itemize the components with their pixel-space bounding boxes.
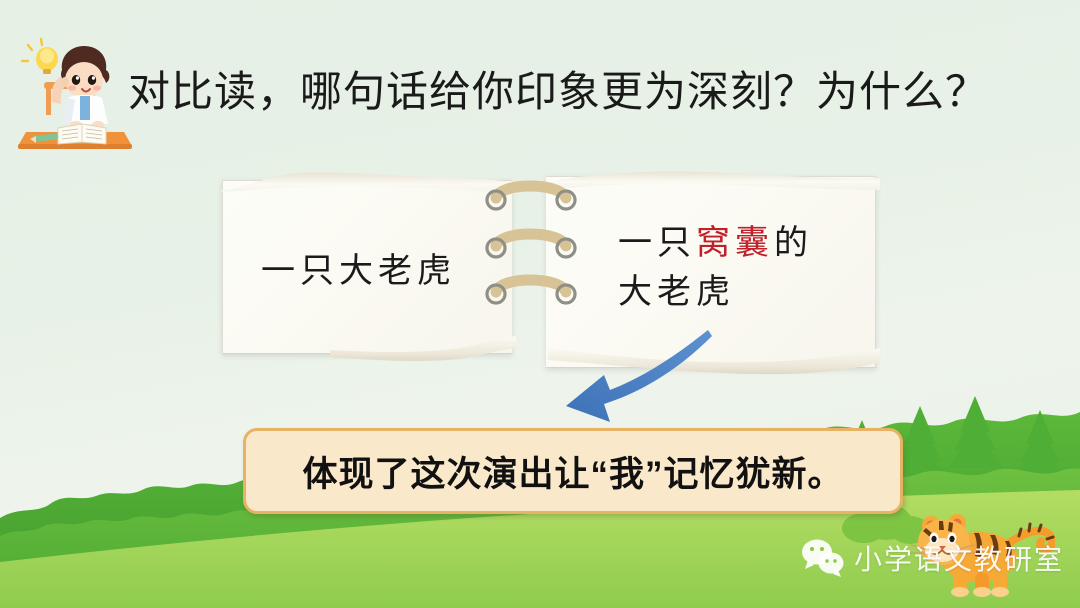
lightbulb-idea-icon	[22, 39, 58, 74]
card-right-text: 一只窝囊的 大老虎	[618, 219, 813, 318]
card-right-line1-prefix: 一只	[618, 225, 696, 262]
callout-text: 体现了这次演出让“我”记忆犹新。	[302, 446, 843, 497]
paper-card-left: 一只大老虎	[222, 180, 512, 354]
watermark: 小学语文教研室	[800, 538, 1064, 578]
watermark-text: 小学语文教研室	[854, 538, 1064, 578]
card-right-highlight: 窝囊	[696, 225, 774, 262]
wechat-icon	[800, 538, 846, 578]
slide-canvas: 对比读，哪句话给你印象更为深刻？为什么？ 一只大老虎	[0, 0, 1080, 608]
boy-studying-illustration	[16, 32, 134, 152]
card-right-line2: 大老虎	[618, 274, 735, 311]
page-title: 对比读，哪句话给你印象更为深刻？为什么？	[128, 72, 988, 114]
card-left-text: 一只大老虎	[261, 243, 456, 292]
callout-box: 体现了这次演出让“我”记忆犹新。	[243, 428, 903, 514]
blue-curved-arrow-icon	[548, 328, 718, 428]
binder-rings	[476, 172, 596, 312]
card-right-line1-suffix: 的	[774, 225, 813, 262]
